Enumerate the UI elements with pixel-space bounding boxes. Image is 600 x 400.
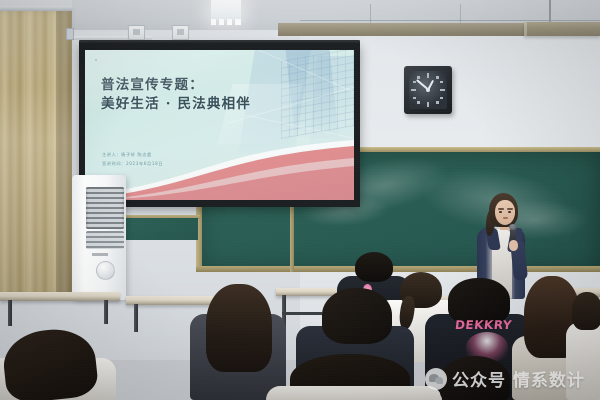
conduit-bracket xyxy=(66,28,74,40)
air-conditioner-unit xyxy=(72,175,126,300)
chalkboard-frame-bottom xyxy=(196,266,600,272)
wall-clock xyxy=(404,66,452,114)
ceiling-beam xyxy=(278,23,528,36)
presenter-eye xyxy=(508,211,511,213)
desk-leg xyxy=(104,300,108,324)
ceiling-seam xyxy=(300,20,600,21)
curtain-rail xyxy=(0,6,72,11)
slide-subtitle: 主讲人：杨子轩 陈志超 宣讲时间：2023年6月18日 xyxy=(102,150,163,168)
ac-brand-logo xyxy=(92,253,108,256)
student-hair xyxy=(206,284,272,372)
microphone-head-icon xyxy=(509,224,517,230)
desk-rail xyxy=(282,312,322,315)
desk-leg xyxy=(8,300,12,326)
ac-vent-upper xyxy=(86,187,124,229)
light-support-rod xyxy=(549,0,551,24)
student-hair xyxy=(355,252,393,282)
watermark: 公众号 情系数计 xyxy=(425,366,585,391)
presenter-face xyxy=(495,200,515,225)
presenter-mouth xyxy=(503,217,508,219)
clock-center-pin xyxy=(426,88,430,92)
watermark-text: 公众号 情系数计 xyxy=(452,366,585,391)
desk-leg xyxy=(134,304,138,332)
ceiling-seam xyxy=(460,4,461,24)
slide-corner-dot xyxy=(95,59,97,61)
hanging-light-bar xyxy=(524,22,600,36)
presenter-brow xyxy=(498,208,504,210)
student-hair xyxy=(322,288,392,344)
wall-outlet xyxy=(172,25,189,40)
desk xyxy=(0,292,120,301)
ac-control-dial[interactable] xyxy=(96,261,115,280)
presenter-eye xyxy=(499,211,502,213)
ac-vent-lower xyxy=(86,231,124,249)
presenter-hand xyxy=(509,240,518,251)
wall-outlet xyxy=(128,25,145,40)
tee-graphic-text: DEKKRY xyxy=(454,318,519,332)
slide-title: 普法宣传专题： 美好生活 · 民法典相伴 xyxy=(101,76,251,114)
wechat-icon xyxy=(425,368,447,390)
student-torso xyxy=(266,386,442,400)
presenter-brow xyxy=(507,208,513,210)
student-hair xyxy=(572,292,600,330)
ceiling-lamp-icon xyxy=(211,0,241,20)
classroom-photo: 普法宣传专题： 美好生活 · 民法典相伴 主讲人：杨子轩 陈志超 宣讲时间：20… xyxy=(0,0,600,400)
